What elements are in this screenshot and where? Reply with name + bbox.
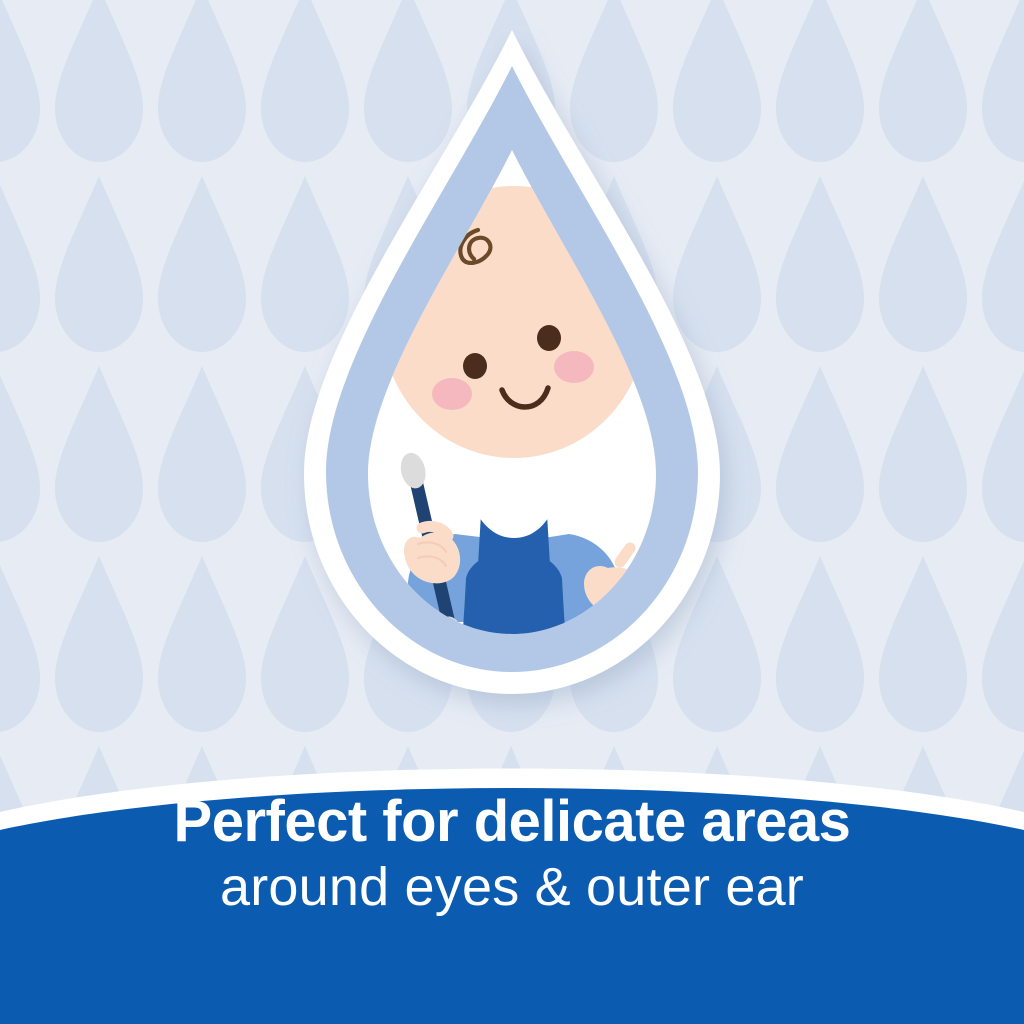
hero-water-drop bbox=[252, 22, 772, 722]
baby-eye-left bbox=[463, 353, 487, 379]
banner-caption: Perfect for delicate areas around eyes &… bbox=[0, 790, 1024, 919]
banner-subheadline: around eyes & outer ear bbox=[0, 857, 1024, 919]
bottom-banner: Perfect for delicate areas around eyes &… bbox=[0, 764, 1024, 1024]
ad-canvas: Perfect for delicate areas around eyes &… bbox=[0, 0, 1024, 1024]
baby-cheek-right bbox=[554, 351, 594, 383]
banner-headline: Perfect for delicate areas bbox=[0, 790, 1024, 855]
baby-eye-right bbox=[537, 325, 561, 351]
baby-cheek-left bbox=[432, 378, 472, 410]
